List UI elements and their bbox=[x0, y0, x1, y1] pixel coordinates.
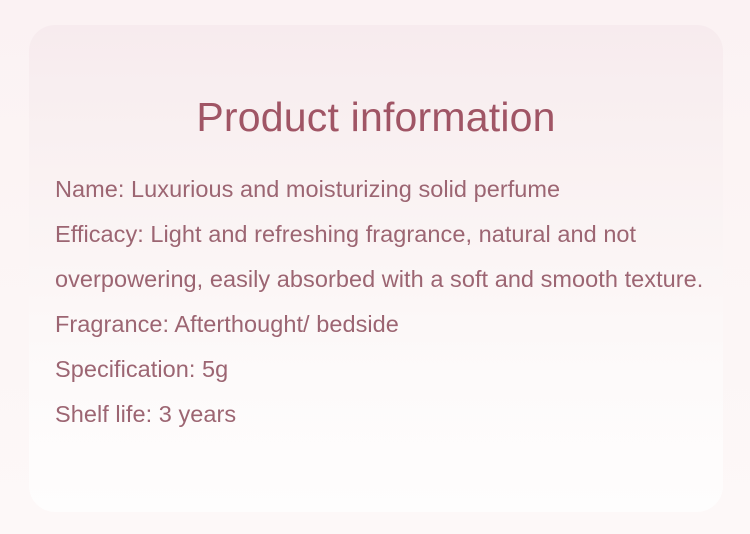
product-information-page: Product information Name: Luxurious and … bbox=[0, 0, 750, 534]
page-title: Product information bbox=[29, 93, 723, 141]
product-information-card: Product information Name: Luxurious and … bbox=[29, 25, 723, 512]
list-item: Shelf life: 3 years bbox=[55, 392, 705, 437]
list-item: Fragrance: Afterthought/ bedside bbox=[55, 302, 705, 347]
product-detail-list: Name: Luxurious and moisturizing solid p… bbox=[55, 167, 705, 437]
list-item: Specification: 5g bbox=[55, 347, 705, 392]
list-item: Name: Luxurious and moisturizing solid p… bbox=[55, 167, 705, 212]
list-item: Efficacy: Light and refreshing fragrance… bbox=[55, 212, 705, 302]
